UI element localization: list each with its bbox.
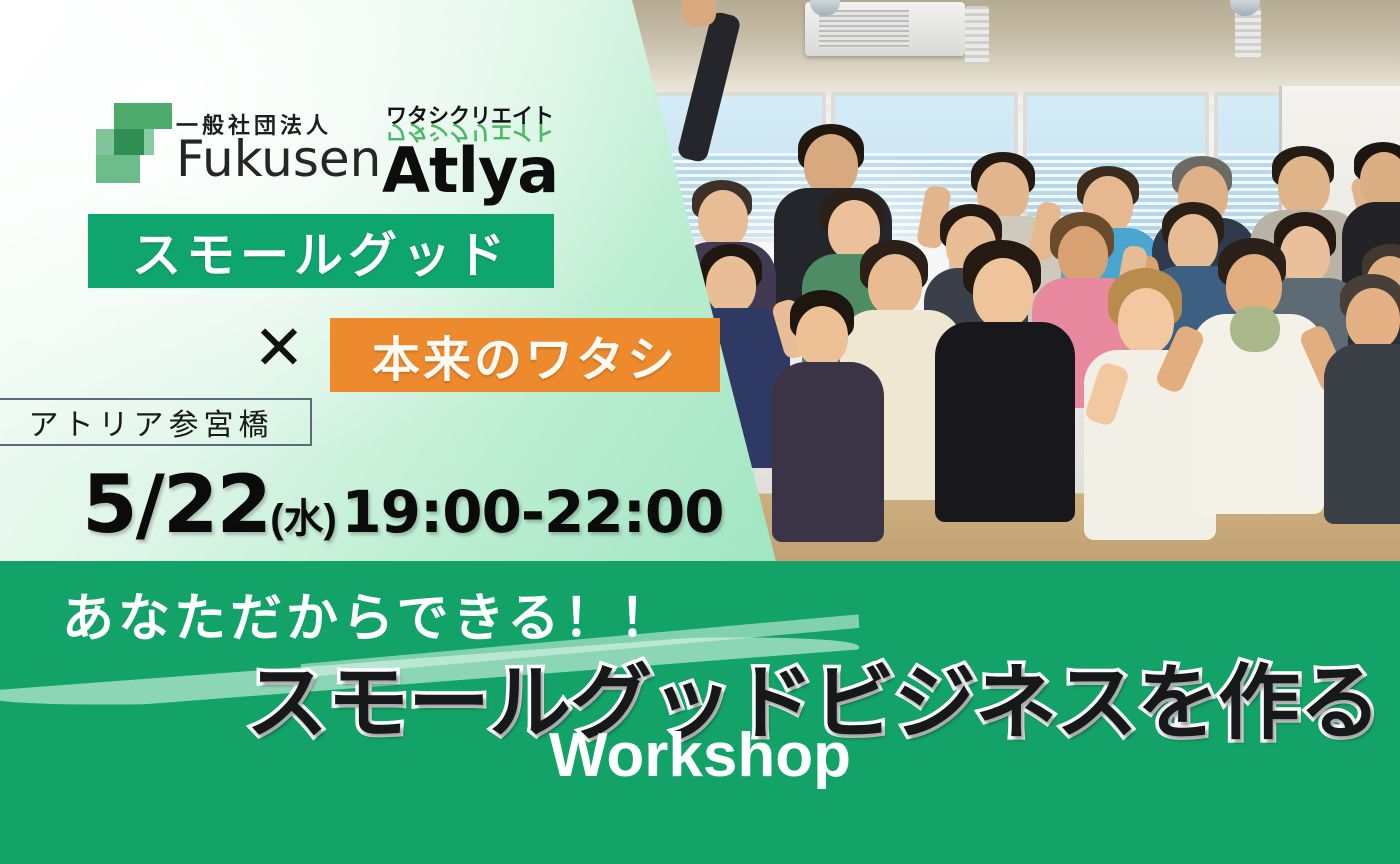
venue-box: アトリア参宮橋 <box>0 398 312 446</box>
badge-true-self-label: 本来のワタシ <box>372 320 678 390</box>
event-date: 5/22 <box>82 458 270 551</box>
badge-small-good-label: スモールグッド <box>132 216 510 287</box>
event-time: 19:00-22:00 <box>341 478 723 546</box>
event-datetime: 5/22(水) 19:00-22:00 <box>82 458 724 551</box>
badge-small-good: スモールグッド <box>88 214 554 288</box>
event-poster: 一般社団法人 Fukusen ワタシクリエイト ワタシクリエイト Atlya ス… <box>0 0 1400 864</box>
fukusen-step-mark-icon <box>96 103 172 183</box>
atlya-wordmark: Atlya <box>382 134 558 207</box>
duct-pipe <box>965 6 989 64</box>
venue-label: アトリア参宮橋 <box>29 400 274 444</box>
event-day-of-week: (水) <box>270 497 337 541</box>
cross-multiply-icon: ✕ <box>248 320 310 382</box>
fukusen-wordmark: Fukusen <box>176 130 381 188</box>
banner-workshop-label: Workshop <box>0 720 1400 791</box>
badge-true-self: 本来のワタシ <box>330 318 720 392</box>
